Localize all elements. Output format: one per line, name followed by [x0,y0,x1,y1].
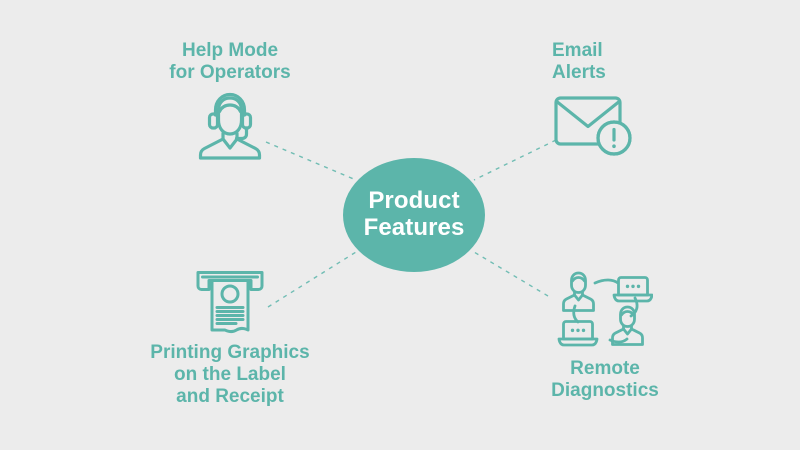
feature-label-line2: Diagnostics [551,380,659,402]
printer-receipt-icon [191,268,269,338]
feature-node-email-alerts[interactable]: Email Alerts [552,40,682,160]
feature-label-line1: Email [552,40,603,62]
feature-label-line1: Printing Graphics [150,342,309,364]
product-features-diagram: Product Features Help Mode for Operators [0,0,800,450]
headset-operator-icon [192,90,268,162]
network-people-laptops-icon [557,270,653,354]
feature-node-printing-graphics[interactable]: Printing Graphics on the Label and Recei… [140,268,320,408]
feature-label-line1: Help Mode [182,40,278,62]
feature-node-help-mode[interactable]: Help Mode for Operators [150,40,310,162]
hub-title-line1: Product [368,188,459,215]
feature-label-line2: Alerts [552,62,606,84]
feature-label-line2: for Operators [169,62,290,84]
feature-label-line3: and Receipt [176,386,284,408]
connector-email-alerts [474,140,556,180]
hub-circle[interactable]: Product Features [343,158,485,272]
feature-label-line1: Remote [570,358,640,380]
feature-node-remote-diagnostics[interactable]: Remote Diagnostics [540,270,670,402]
hub-title-line2: Features [364,215,465,242]
feature-label-line2: on the Label [174,364,286,386]
connector-remote-diagnostics [474,252,548,296]
envelope-alert-icon [552,90,636,160]
